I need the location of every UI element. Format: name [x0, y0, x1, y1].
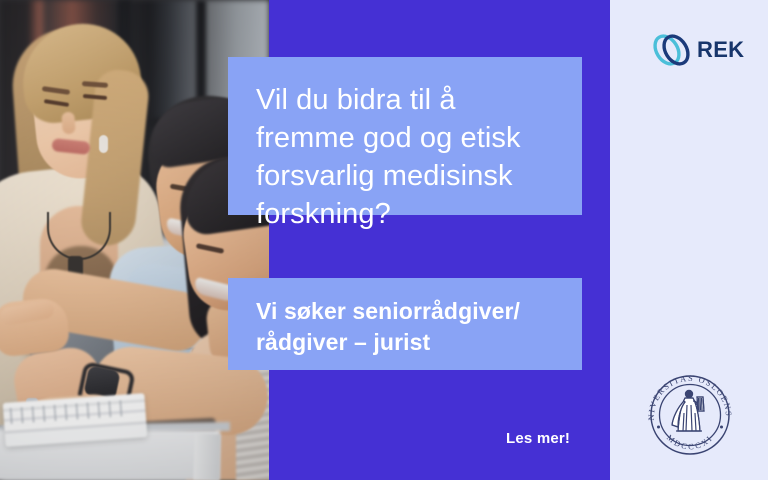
- job-title-text: Vi søker seniorrådgiver/ rådgiver – juri…: [256, 296, 554, 358]
- svg-text:MDCCCXI: MDCCCXI: [665, 433, 715, 451]
- uio-seal: UNIVERSITAS OSLOENSIS MDCCCXI: [640, 365, 740, 465]
- headline-card: Vil du bidra til å fremme god og etisk f…: [228, 57, 582, 215]
- rek-rings-icon: [650, 29, 694, 71]
- read-more-link[interactable]: Les mer!: [506, 430, 570, 447]
- headline-text: Vil du bidra til å fremme god og etisk f…: [256, 81, 554, 233]
- uio-seal-figure: [672, 390, 704, 431]
- rek-wordmark: REK: [697, 39, 744, 61]
- uio-seal-bottom-text: MDCCCXI: [665, 433, 715, 451]
- job-title-card: Vi søker seniorrådgiver/ rådgiver – juri…: [228, 278, 582, 370]
- rek-logo[interactable]: REK: [650, 28, 742, 72]
- recruitment-banner: Vil du bidra til å fremme god og etisk f…: [0, 0, 768, 480]
